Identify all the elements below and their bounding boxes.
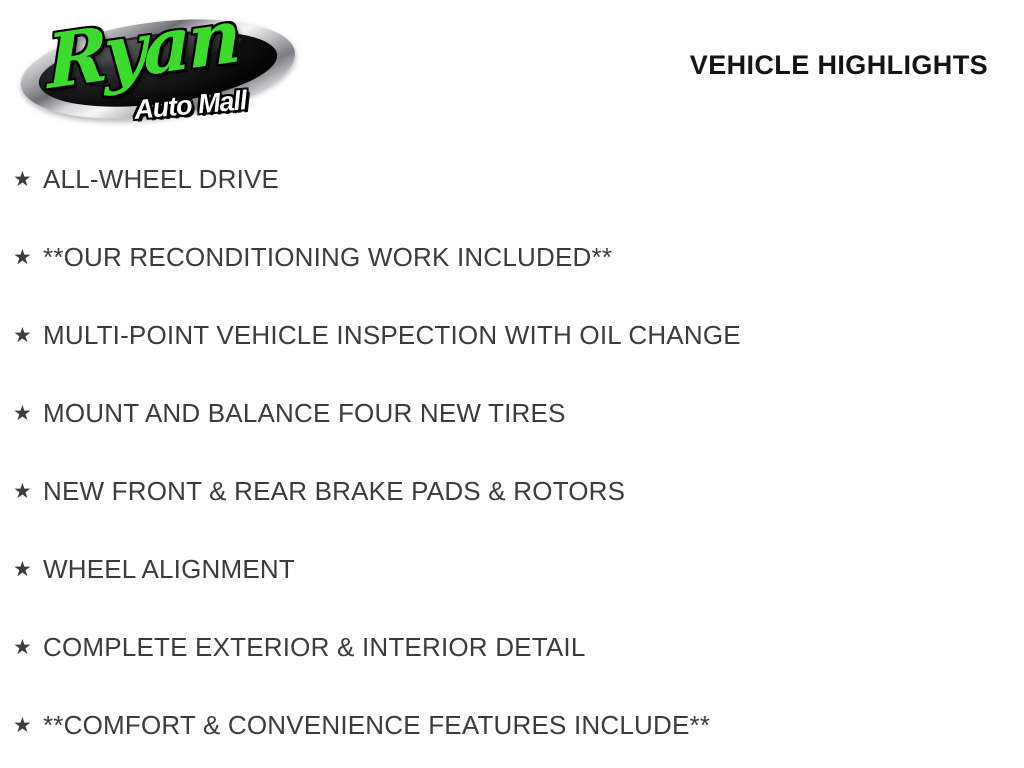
list-item: ★COMPLETE EXTERIOR & INTERIOR DETAIL bbox=[0, 608, 1024, 686]
page-header: Ryan Auto Mall VEHICLE HIGHLIGHTS bbox=[0, 0, 1024, 140]
star-icon: ★ bbox=[13, 637, 43, 658]
list-item: ★**COMFORT & CONVENIENCE FEATURES INCLUD… bbox=[0, 686, 1024, 764]
highlight-text: **COMFORT & CONVENIENCE FEATURES INCLUDE… bbox=[43, 711, 710, 740]
vehicle-highlights-page: Ryan Auto Mall VEHICLE HIGHLIGHTS ★ALL-W… bbox=[0, 0, 1024, 768]
highlight-text: COMPLETE EXTERIOR & INTERIOR DETAIL bbox=[43, 633, 586, 662]
highlight-text: ALL-WHEEL DRIVE bbox=[43, 165, 279, 194]
star-icon: ★ bbox=[13, 559, 43, 580]
star-icon: ★ bbox=[13, 481, 43, 502]
list-item: ★MULTI-POINT VEHICLE INSPECTION WITH OIL… bbox=[0, 296, 1024, 374]
logo-brand-tagline: Auto Mall bbox=[133, 87, 247, 124]
list-item: ★ALL-WHEEL DRIVE bbox=[0, 140, 1024, 218]
ryan-auto-mall-logo: Ryan Auto Mall bbox=[16, 8, 300, 126]
star-icon: ★ bbox=[13, 169, 43, 190]
list-item: ★NEW FRONT & REAR BRAKE PADS & ROTORS bbox=[0, 452, 1024, 530]
vehicle-highlights-list: ★ALL-WHEEL DRIVE★**OUR RECONDITIONING WO… bbox=[0, 140, 1024, 764]
highlight-text: MULTI-POINT VEHICLE INSPECTION WITH OIL … bbox=[43, 321, 741, 350]
page-title: VEHICLE HIGHLIGHTS bbox=[690, 50, 988, 81]
highlight-text: **OUR RECONDITIONING WORK INCLUDED** bbox=[43, 243, 612, 272]
star-icon: ★ bbox=[13, 403, 43, 424]
highlight-text: WHEEL ALIGNMENT bbox=[43, 555, 295, 584]
star-icon: ★ bbox=[13, 715, 43, 736]
list-item: ★MOUNT AND BALANCE FOUR NEW TIRES bbox=[0, 374, 1024, 452]
highlight-text: MOUNT AND BALANCE FOUR NEW TIRES bbox=[43, 399, 566, 428]
star-icon: ★ bbox=[13, 325, 43, 346]
highlight-text: NEW FRONT & REAR BRAKE PADS & ROTORS bbox=[43, 477, 625, 506]
star-icon: ★ bbox=[13, 247, 43, 268]
list-item: ★WHEEL ALIGNMENT bbox=[0, 530, 1024, 608]
list-item: ★**OUR RECONDITIONING WORK INCLUDED** bbox=[0, 218, 1024, 296]
